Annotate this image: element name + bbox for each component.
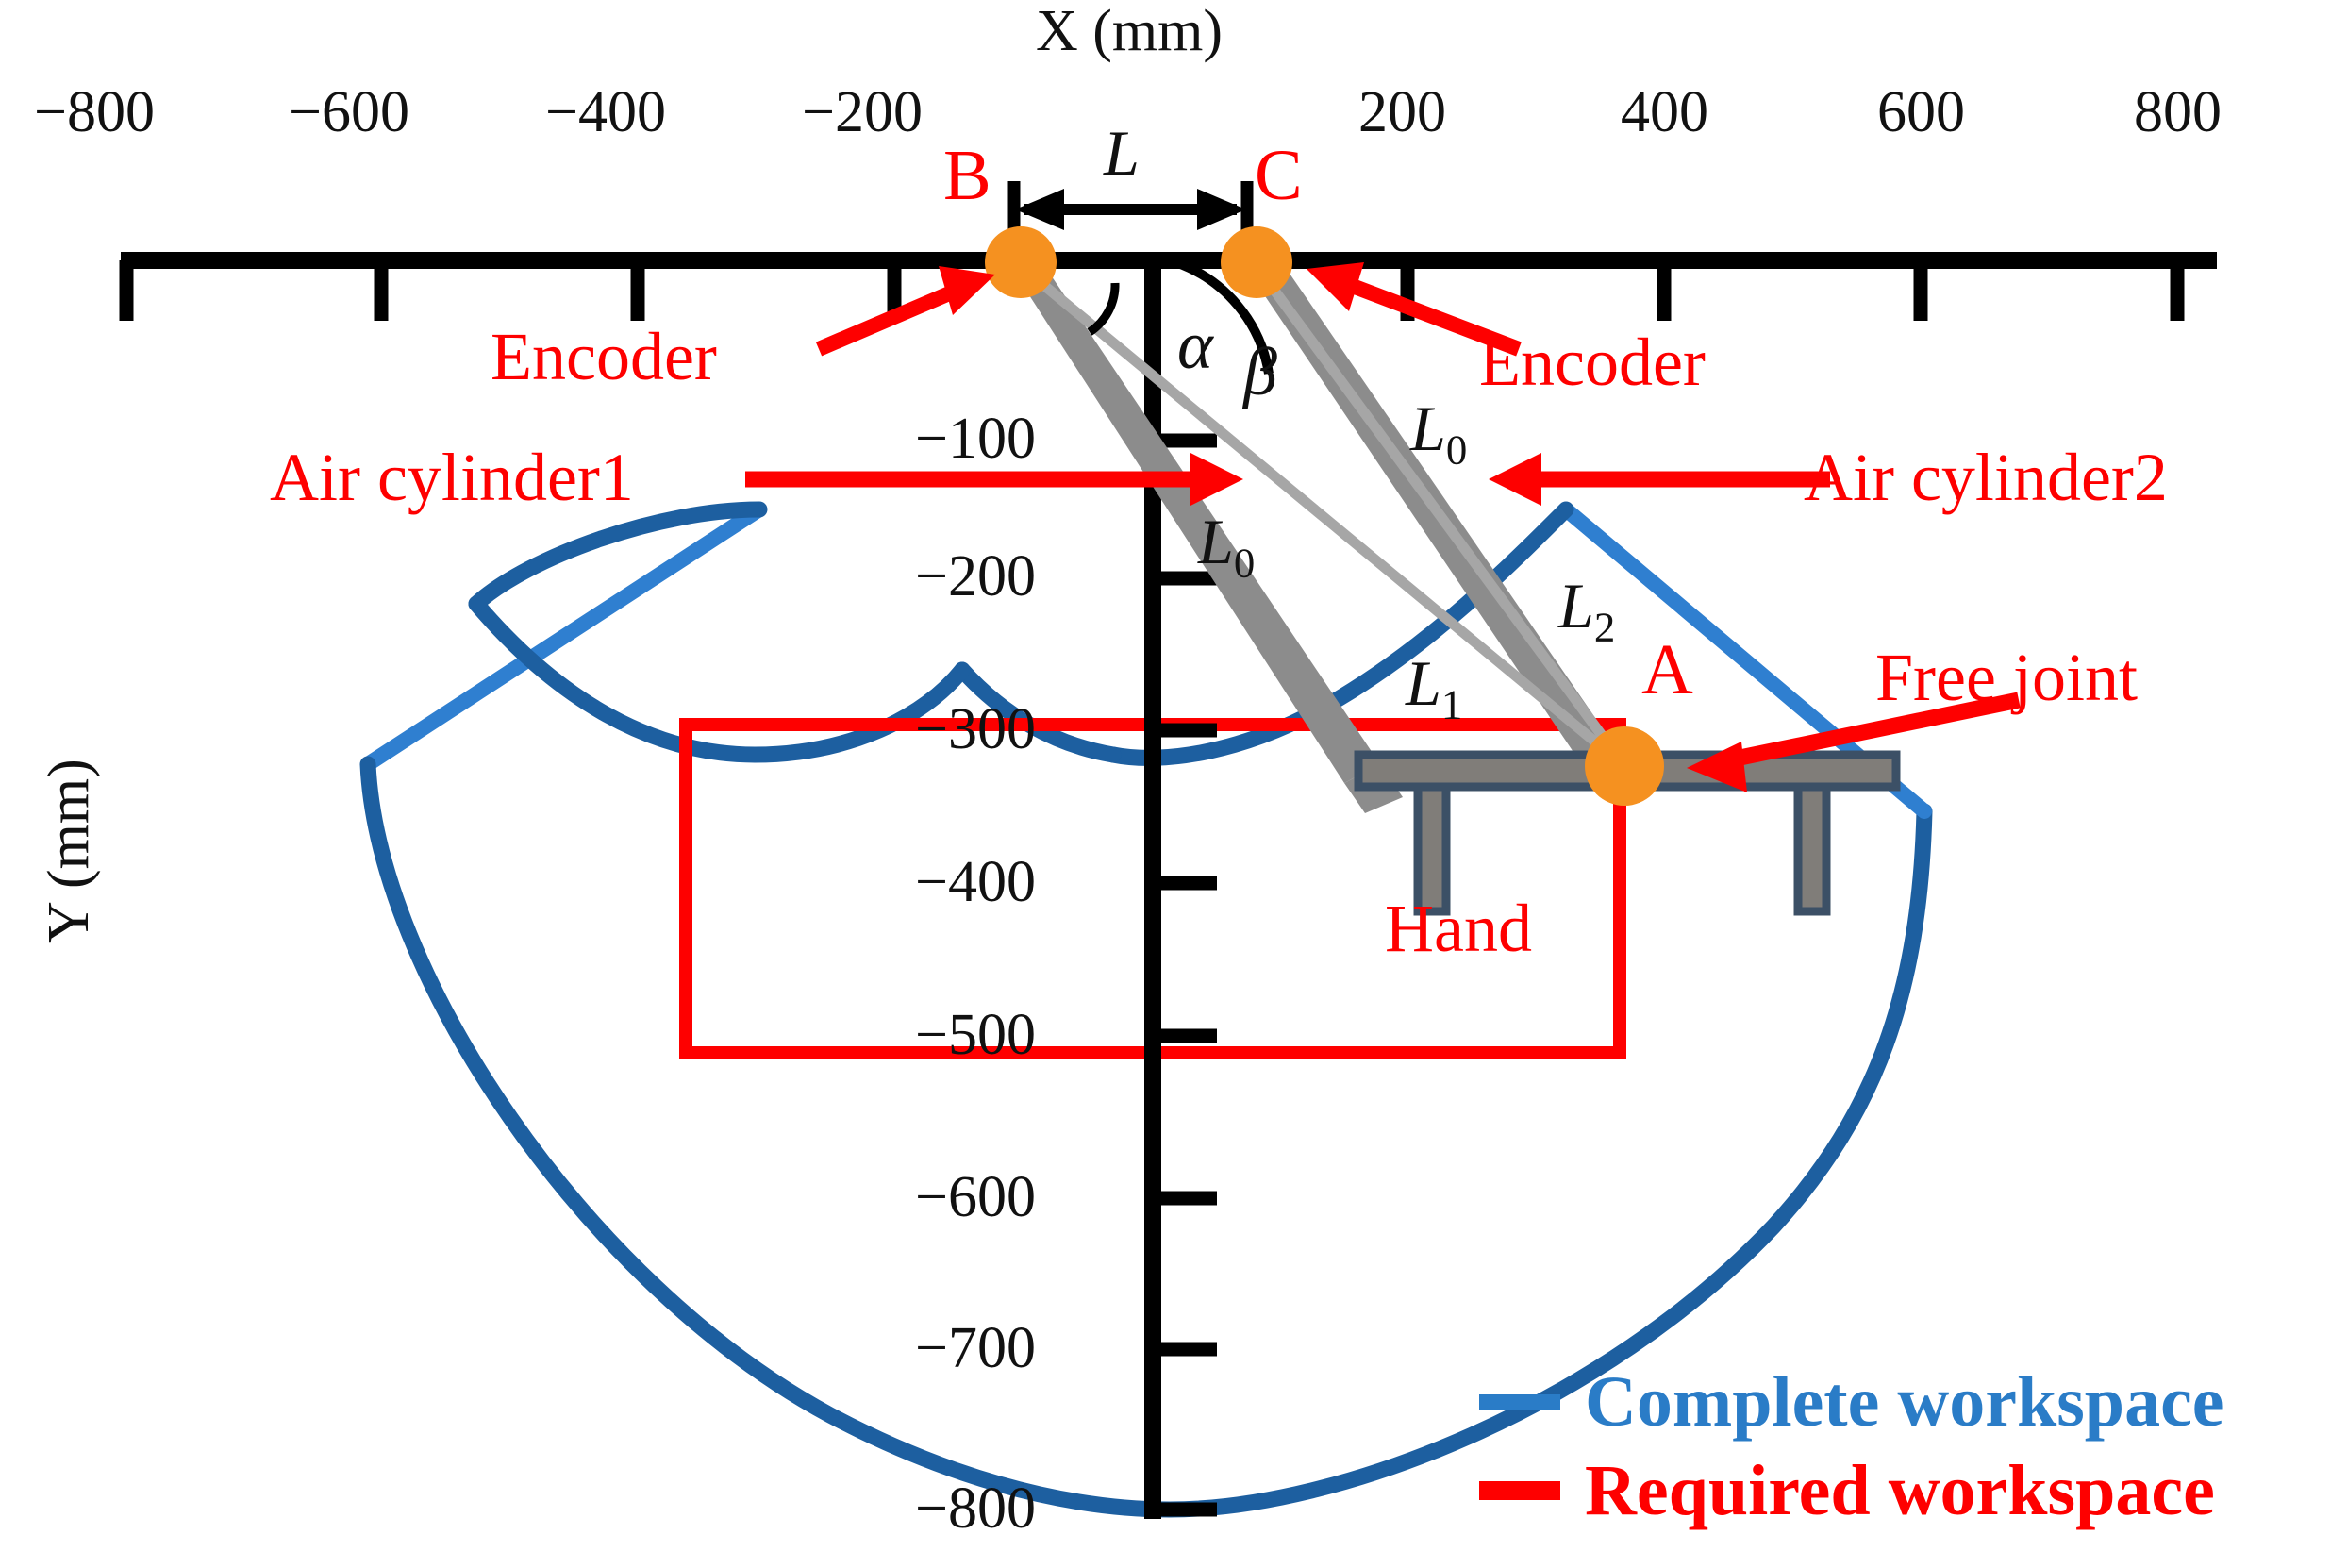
joint-c-marker (1221, 226, 1292, 298)
point-label-a: A (1641, 634, 1693, 706)
x-axis (121, 260, 2217, 321)
x-tick-label-minus400: −400 (545, 83, 666, 142)
y-tick-label-minus300: −300 (915, 700, 1036, 759)
angle-label-beta: β (1243, 338, 1277, 406)
y-tick-label-minus400: −400 (915, 853, 1036, 911)
y-tick-label-minus200: −200 (915, 547, 1036, 606)
diagram-canvas (0, 0, 2331, 1568)
x-tick-label-minus800: −800 (34, 83, 155, 142)
link-label-L0-left-base: L (1410, 392, 1446, 464)
air-cylinder-2-label: Air cylinder2 (1804, 443, 2168, 511)
legend-item-required-workspace: Required workspace (1479, 1455, 2224, 1526)
link-label-L2-base: L (1558, 570, 1594, 642)
link-label-L0-left-sub: 0 (1446, 426, 1467, 474)
angle-label-alpha: α (1177, 311, 1213, 379)
x-tick-label-800: 800 (2134, 83, 2222, 142)
legend-swatch-complete-workspace (1479, 1394, 1560, 1410)
link-label-L1-sub: 1 (1441, 681, 1462, 728)
legend-swatch-required-workspace (1479, 1481, 1560, 1500)
workspace-diagram: X (mm) Y (mm) −800 −600 −400 −200 200 40… (0, 0, 2331, 1568)
joint-b-marker (985, 226, 1057, 298)
x-tick-label-minus200: −200 (802, 83, 923, 142)
link-label-L0-right: L0 (1198, 509, 1255, 584)
y-tick-label-minus500: −500 (915, 1006, 1036, 1064)
y-axis-title: Y (mm) (40, 759, 98, 943)
legend-item-complete-workspace: Complete workspace (1479, 1366, 2224, 1438)
free-joint-label: Free joint (1875, 643, 2138, 711)
y-tick-label-minus100: −100 (915, 409, 1036, 468)
link-label-L0-right-base: L (1198, 506, 1234, 577)
air-cylinder-1-label: Air cylinder1 (270, 443, 634, 511)
y-tick-label-minus700: −700 (915, 1319, 1036, 1377)
dimension-label-L: L (1104, 121, 1140, 185)
legend-label-complete-workspace: Complete workspace (1585, 1366, 2224, 1438)
encoder-label-right: Encoder (1479, 328, 1706, 396)
point-label-c: C (1255, 140, 1303, 211)
x-tick-label-minus600: −600 (289, 83, 409, 142)
x-tick-label-400: 400 (1621, 83, 1708, 142)
legend: Complete workspace Required workspace (1479, 1366, 2224, 1526)
link-label-L2: L2 (1558, 574, 1615, 648)
dimension-L (1014, 181, 1247, 238)
link-label-L2-sub: 2 (1594, 604, 1615, 651)
point-label-b: B (943, 140, 991, 211)
x-axis-title: X (mm) (1036, 2, 1223, 60)
y-tick-label-minus600: −600 (915, 1168, 1036, 1226)
y-tick-label-minus800: −800 (915, 1479, 1036, 1538)
x-tick-label-200: 200 (1358, 83, 1446, 142)
legend-label-required-workspace: Required workspace (1585, 1455, 2215, 1526)
link-label-L0-right-sub: 0 (1234, 540, 1255, 587)
hand-label: Hand (1385, 894, 1532, 962)
link-label-L0-left: L0 (1410, 396, 1467, 471)
link-label-L1: L1 (1406, 651, 1462, 726)
joint-a-marker (1585, 726, 1664, 806)
x-tick-label-600: 600 (1877, 83, 1965, 142)
encoder-label-left: Encoder (491, 323, 717, 391)
link-label-L1-base: L (1406, 647, 1441, 719)
